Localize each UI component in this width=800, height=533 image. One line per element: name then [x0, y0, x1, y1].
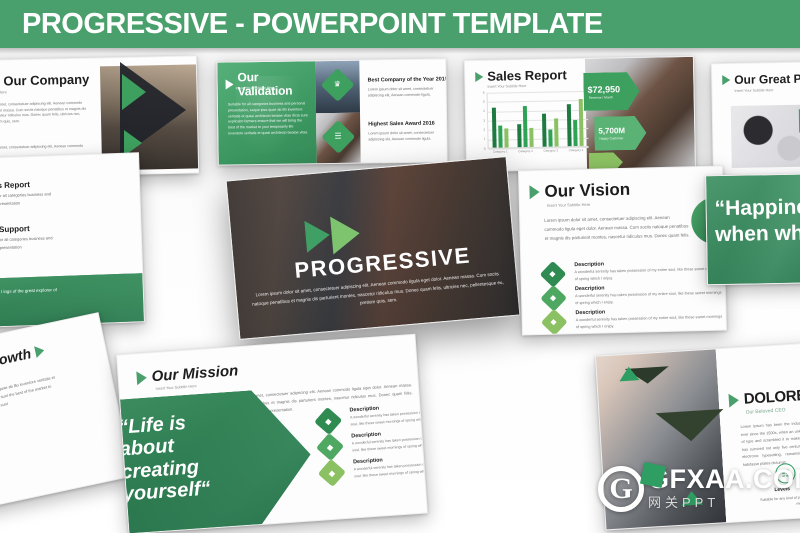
portfolio-title: Our Great Portfolio [734, 72, 800, 86]
revenue-badge-label: Revenue / Month [589, 95, 613, 99]
vision-body: Lorem ipsum dolor sit amet, consectetuer… [544, 213, 690, 243]
slide-our-mission[interactable]: Our Mission Insert Your Subtitle Here Lo… [116, 334, 428, 533]
chart-bar [492, 107, 497, 147]
validation-subtitle: Insert Your Subtitle Here [236, 86, 275, 91]
watermark-badge-shape [640, 462, 666, 488]
gear-icon: ◆ [314, 407, 342, 435]
chart-bar-group [538, 90, 564, 146]
validation-panel-body: Suitable for all categories business and… [228, 101, 308, 137]
annual-growth-body: personal presentation, eaque ipsa quae a… [0, 373, 60, 421]
chart-bar [517, 124, 522, 147]
team-play-icon [728, 393, 739, 408]
chart-y-axis: 0123456 [478, 93, 487, 149]
list-item-body: A wonderful serenity has taken possessio… [575, 290, 725, 307]
portfolio-subtitle: Insert Your Subtitle Here [734, 88, 773, 93]
watermark-logo: G [598, 466, 644, 512]
about-title: About Our Company [0, 73, 89, 89]
sales-report-subtitle: Insert Your Subtitle Here [487, 84, 526, 89]
revenue-badge: $72,950 Revenue / Month [583, 72, 640, 111]
sales-report-play-icon [475, 71, 483, 81]
play-triangle-logo [304, 211, 403, 255]
globe-icon: ◆ [316, 433, 344, 461]
annual-growth-title: Annual Growth [0, 346, 32, 381]
mission-subtitle: Insert Your Subtitle Here [155, 384, 196, 391]
chart-y-tick-label: 6 [483, 90, 485, 94]
award-2-title: Highest Sales Award 2016 [368, 122, 435, 128]
chart-y-tick-label: 3 [483, 118, 485, 122]
hero-photo: PROGRESSIVE Lorem ipsum dolor sit amet, … [227, 157, 520, 339]
chart-y-tick-label: 5 [483, 100, 485, 104]
header-shadow [0, 48, 800, 54]
validation-green-panel: Our Validation Insert Your Subtitle Here… [217, 61, 316, 164]
header-banner: PROGRESSIVE - POWERPOINT TEMPLATE [0, 0, 800, 48]
feature-1-body: Suitable for all categories business and… [0, 190, 56, 208]
decor-triangle-green-1 [122, 74, 146, 110]
revenue-badge-value: $72,950 [587, 84, 620, 95]
vision-title: Our Vision [544, 181, 630, 200]
page-title: PROGRESSIVE - POWERPOINT TEMPLATE [22, 8, 603, 41]
happiness-line-2: when wh [715, 223, 800, 246]
annual-growth-play-icon [34, 344, 45, 358]
list-item[interactable]: ◆DescriptionA wonderful serenity has tak… [544, 307, 725, 335]
team-decor-triangle-3 [656, 409, 726, 443]
watermark: G GFXAA.COM 网关PPT [598, 466, 800, 512]
watermark-subtext: 网关PPT [648, 495, 800, 512]
chart-y-tick-label: 0 [484, 146, 486, 150]
chart-x-tick-label: Category 3 [538, 148, 563, 156]
slide-our-great-portfolio[interactable]: Our Great Portfolio Insert Your Subtitle… [711, 61, 800, 184]
mission-quote-panel: “Life isaboutcreatingyourself“ [117, 387, 315, 533]
chart-bar-group [513, 91, 539, 147]
slides-showcase-stage: About Our Company Insert Your Subtitle H… [0, 48, 800, 533]
validation-play-icon [226, 79, 234, 89]
award-2-body: Lorem ipsum dolor sit amet, consectetuer… [368, 130, 440, 142]
chart-bar-group [488, 91, 514, 147]
umbrella-icon: ◆ [318, 459, 346, 487]
about-subtitle: Insert Your Subtitle Here [0, 89, 7, 95]
chart-bar [529, 128, 534, 147]
chart-bar [523, 106, 528, 147]
watermark-text: GFXAA.COM [648, 466, 800, 493]
mission-title: Our Mission [151, 363, 239, 384]
team-member-role: Our Beloved CEO [745, 407, 785, 415]
portfolio-play-icon [722, 75, 730, 85]
team-member-name: DOLOREZ SAN [743, 385, 800, 406]
happiness-photo: “Happiness when wh [706, 174, 800, 285]
list-item-title: Description [575, 309, 605, 316]
list-item-title: Description [575, 285, 605, 292]
team-member-body: Lorem Ipsum has been the industry standa… [740, 418, 800, 470]
chart-bar [504, 129, 509, 148]
features-green-band-text: and praising pain was born and I ings of… [0, 286, 59, 308]
vision-play-icon [529, 185, 539, 199]
chart-bar [567, 104, 572, 146]
chart-y-tick-label: 1 [484, 137, 486, 141]
vision-items-list: ◆DescriptionA wonderful serenity has tak… [543, 259, 725, 335]
award-1-title: Best Company of the Year 2015 [368, 77, 447, 84]
feature-2-title: Full Support [0, 225, 30, 235]
chart-bar [548, 130, 553, 147]
chart-bar [542, 114, 547, 147]
list-item-title: Description [574, 261, 604, 268]
chart-x-tick-label: Category 2 [513, 149, 538, 157]
chart-bar [554, 118, 559, 146]
slide-happiness-quote[interactable]: “Happiness when wh [705, 173, 800, 286]
mission-items-list: ◆DescriptionA wonderful serenity has tak… [317, 402, 426, 487]
slide-our-vision[interactable]: Our Vision Insert Your Subtitle Here Lor… [518, 166, 727, 336]
feature-2-body: Suitable for all categories business and… [0, 234, 57, 252]
chart-x-tick-label: Category 4 [563, 148, 588, 156]
list-item-body: A wonderful serenity has taken possessio… [574, 266, 724, 283]
chart-y-tick-label: 2 [483, 128, 485, 132]
validation-title: Our Validation [237, 69, 315, 98]
team-decor-triangle-2 [619, 366, 640, 381]
customer-badge: 5,700M Happy Customer [594, 116, 647, 151]
list-item-body: A wonderful serenity has taken possessio… [576, 314, 726, 331]
sales-bar-chart: 0123456 Category 1Category 2Category 3Ca… [478, 91, 589, 159]
award-1-body: Lorem ipsum dolor sit amet, consectetuer… [368, 86, 440, 98]
happiness-line-1: “Happiness [714, 196, 800, 219]
chart-plot-area [487, 91, 589, 149]
mission-quote-text: “Life isaboutcreatingyourself“ [117, 409, 253, 507]
about-body: Lorem ipsum dolor sit amet, consectetuer… [0, 101, 91, 126]
building-icon: ◆ [541, 309, 568, 335]
slide-sales-report[interactable]: Sales Report Insert Your Subtitle Here 0… [464, 56, 696, 172]
portfolio-collage [731, 104, 800, 168]
sales-report-title: Sales Report [487, 68, 567, 83]
vision-subtitle: Insert Your Subtitle Here [547, 202, 590, 208]
customer-badge-label: Happy Customer [599, 136, 623, 140]
people-group-icon: ◆ [540, 261, 567, 288]
target-icon: ◆ [540, 285, 567, 312]
customer-badge-value: 5,700M [598, 126, 625, 136]
chart-bar [573, 120, 578, 146]
hero-body: Lorem ipsum dolor sit amet, consectetuer… [250, 270, 505, 318]
mission-play-icon [136, 370, 147, 385]
slide-our-validation[interactable]: Our Validation Insert Your Subtitle Here… [216, 58, 447, 165]
slide-hero-progressive[interactable]: PROGRESSIVE Lorem ipsum dolor sit amet, … [226, 156, 521, 340]
feature-1-title: Sales Report [0, 181, 30, 191]
chart-bar [498, 125, 503, 147]
chart-y-tick-label: 4 [483, 109, 485, 113]
slide-annual-growth[interactable]: Annual Growth Insert Your Subtitle Here … [0, 312, 133, 516]
slide-features-list[interactable]: ☷ Sales Report Suitable for all categori… [0, 152, 145, 330]
